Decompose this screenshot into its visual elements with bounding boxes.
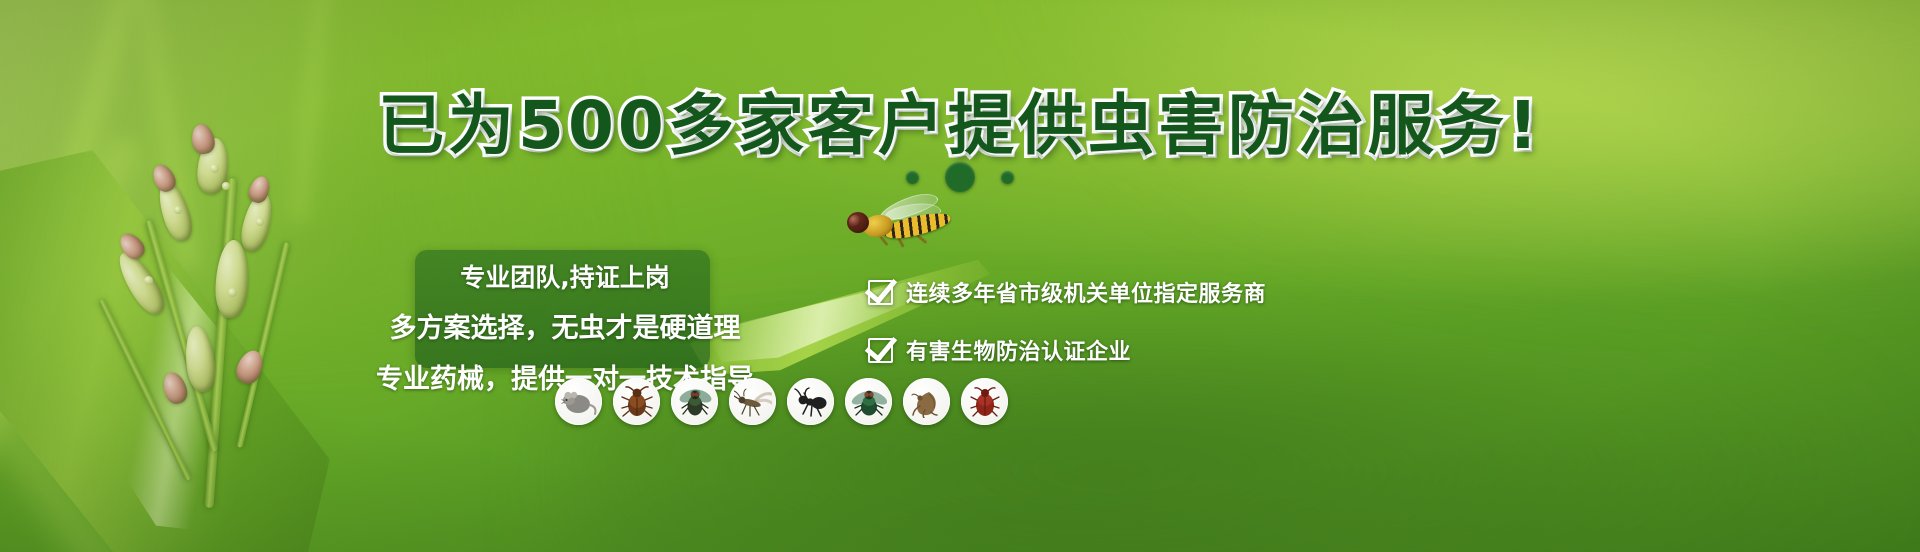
checklist-item: 连续多年省市级机关单位指定服务商 [868,276,1308,308]
banner-headline-text: 已为500多家客户提供虫害防治服务! [378,87,1542,164]
checklist-item: 有害生物防治认证企业 [868,334,1308,366]
promo-banner: 已为500多家客户提供虫害防治服务! 专业团队,持证上岗 多方案选择，无虫才是硬… [0,0,1920,552]
cockroach-icon[interactable]: 蟑螂 [613,378,660,425]
credentials-checklist: 连续多年省市级机关单位指定服务商 有害生物防治认证企业 [868,276,1308,366]
checkbox-checked-icon [868,338,893,363]
dot-large-center-icon [945,162,975,192]
bedbug-icon[interactable]: 臭虫 [961,378,1008,425]
mouse-icon[interactable]: 鼠 [555,378,602,425]
banner-headline: 已为500多家客户提供虫害防治服务! [0,72,1920,168]
checklist-item-label: 连续多年省市级机关单位指定服务商 [906,276,1266,308]
checklist-item-label: 有害生物防治认证企业 [906,334,1131,366]
ant-icon[interactable]: 蚂蚁 [787,378,834,425]
dot-small-right-icon [1001,171,1014,184]
checkbox-checked-icon [868,280,893,305]
flea-icon[interactable]: 跳蚤 [903,378,950,425]
pest-icon-row: 鼠 蟑螂 [555,378,1008,425]
housefly-icon[interactable]: 家蝇 [845,378,892,425]
fly-icon[interactable]: 苍蝇 [671,378,718,425]
mosquito-icon[interactable]: 蚊子 [729,378,776,425]
decorative-dots [0,162,1920,192]
dot-small-left-icon [906,171,919,184]
features-panel [415,250,710,368]
